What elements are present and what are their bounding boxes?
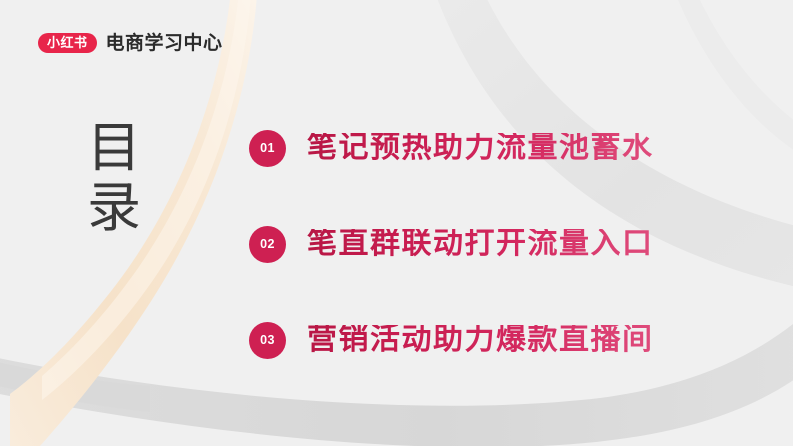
toc-item-label: 笔直群联动打开流量入口 — [307, 229, 654, 259]
toc-number-badge: 01 — [249, 130, 286, 167]
toc-item-label: 营销活动助力爆款直播间 — [307, 325, 654, 355]
list-item[interactable]: 03 营销活动助力爆款直播间 — [249, 292, 749, 388]
list-item[interactable]: 01 笔记预热助力流量池蓄水 — [249, 100, 749, 196]
list-item[interactable]: 02 笔直群联动打开流量入口 — [249, 196, 749, 292]
toc-number-badge: 02 — [249, 226, 286, 263]
page-title-char-1: 目 — [70, 118, 160, 178]
brand-name: 电商学习中心 — [106, 34, 223, 53]
brand-lockup: 小红书 电商学习中心 — [38, 33, 223, 53]
table-of-contents-list: 01 笔记预热助力流量池蓄水 02 笔直群联动打开流量入口 03 营销活动助力爆… — [249, 100, 749, 388]
gray-wedge-bottom-left — [0, 356, 150, 412]
page-title: 目 录 — [70, 118, 160, 239]
toc-item-label: 笔记预热助力流量池蓄水 — [307, 133, 654, 163]
slide-canvas: 小红书 电商学习中心 目 录 01 笔记预热助力流量池蓄水 02 笔直群联动打开… — [0, 0, 793, 446]
page-title-char-2: 录 — [70, 178, 160, 238]
toc-number-badge: 03 — [249, 322, 286, 359]
xiaohongshu-logo-icon: 小红书 — [38, 33, 97, 53]
